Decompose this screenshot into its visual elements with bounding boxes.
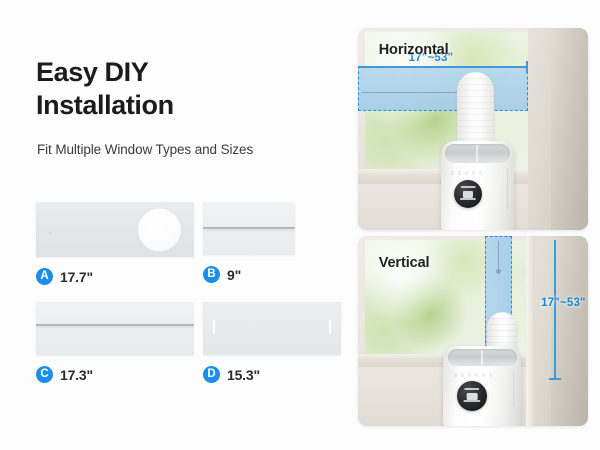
ac-display-panel [454, 180, 482, 208]
part-size-b: 9" [227, 267, 241, 283]
portable-ac-unit [441, 141, 515, 230]
ac-side-seam [507, 168, 508, 209]
badge-a: A [36, 268, 53, 285]
dimension-end-cap [549, 378, 561, 380]
part-caption-c: C 17.3" [36, 366, 194, 383]
part-caption-a: A 17.7" [36, 268, 194, 285]
ac-side-seam [513, 370, 514, 407]
dimension-line [358, 66, 528, 68]
photo-label-vertical: Vertical [379, 255, 430, 271]
part-item-c: C 17.3" [36, 302, 194, 383]
display-line-bottom [460, 198, 476, 200]
dimension-label: 17"~53" [541, 297, 586, 309]
display-line-top [461, 186, 476, 188]
window-kit-panel [358, 66, 528, 110]
parts-row-2: C 17.3" D 15.3" [36, 302, 336, 402]
ac-top-vent [445, 144, 510, 164]
badge-d: D [203, 366, 220, 383]
ac-top-vent [448, 349, 517, 367]
panel-edge-highlight-right [329, 320, 331, 334]
panel-speck [48, 232, 52, 235]
page-title: Easy DIY Installation [36, 56, 174, 122]
parts-row-1: A 17.7" B 9" [36, 202, 336, 302]
parts-grid: A 17.7" B 9" [36, 202, 336, 402]
display-line-bottom [463, 400, 480, 402]
panel-seam-shadow [36, 326, 194, 329]
dimension-line [554, 240, 556, 381]
kit-lock-icon [496, 269, 501, 274]
display-line-top [464, 388, 479, 390]
part-size-c: 17.3" [60, 367, 93, 383]
hose-port-icon [138, 208, 181, 251]
display-temperature [463, 191, 473, 198]
photo-scene: 17"~53" Vertical [358, 236, 588, 426]
badge-c: C [36, 366, 53, 383]
panel-edge-highlight-left [213, 320, 215, 334]
page-subtitle: Fit Multiple Window Types and Sizes [37, 142, 253, 157]
ac-display-panel [457, 381, 487, 411]
photo-scene: 17"~53" Horizontal [358, 28, 588, 230]
ac-brand-mark [454, 373, 492, 377]
part-item-a: A 17.7" [36, 202, 194, 285]
wall-shadow [551, 236, 588, 426]
dimension-end-cap [526, 61, 528, 73]
panel-swatch-c [36, 302, 194, 355]
part-caption-b: B 9" [203, 266, 295, 283]
ac-brand-mark [451, 171, 486, 175]
panel-swatch-a [36, 202, 194, 257]
photo-vertical-install: 17"~53" Vertical [358, 236, 588, 426]
part-size-a: 17.7" [60, 269, 93, 285]
wall-shadow [551, 28, 588, 230]
panel-seam-shadow [203, 229, 295, 232]
panel-swatch-d [203, 302, 341, 355]
badge-b: B [203, 266, 220, 283]
kit-slide-track [498, 241, 499, 271]
display-temperature [467, 393, 478, 400]
window-frame [526, 236, 535, 426]
part-size-d: 15.3" [227, 367, 260, 383]
part-item-d: D 15.3" [203, 302, 341, 383]
portable-ac-unit [443, 346, 521, 426]
photo-horizontal-install: 17"~53" Horizontal [358, 28, 588, 230]
info-column: Easy DIY Installation Fit Multiple Windo… [0, 0, 350, 450]
part-item-b: B 9" [203, 202, 295, 283]
photo-label-horizontal: Horizontal [379, 42, 449, 58]
part-caption-d: D 15.3" [203, 366, 341, 383]
panel-swatch-b [203, 202, 295, 255]
